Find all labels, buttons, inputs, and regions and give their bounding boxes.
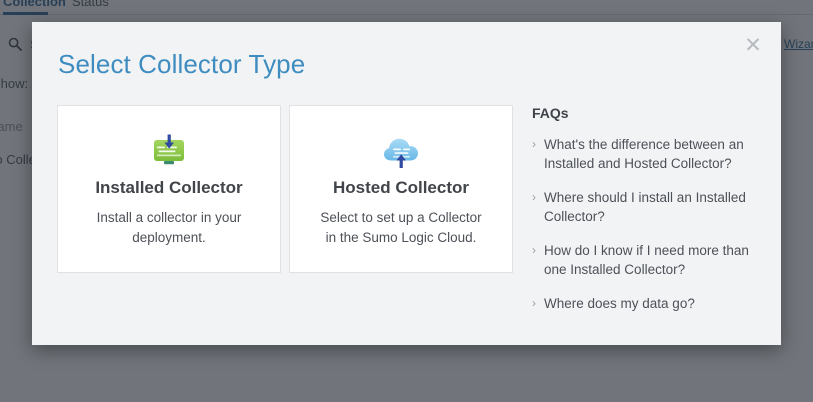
collector-type-card-list: Installed Collector Install a collector … <box>57 105 513 273</box>
faq-link-3[interactable]: › How do I know if I need more than one … <box>532 241 756 279</box>
faq-link-4[interactable]: › Where does my data go? <box>532 294 756 313</box>
card-title-installed: Installed Collector <box>58 178 280 198</box>
faq-link-1[interactable]: › What's the difference between an Insta… <box>532 135 756 173</box>
hosted-collector-cloud-icon <box>290 128 512 174</box>
card-description-installed: Install a collector in your deployment. <box>82 208 256 248</box>
chevron-right-icon: › <box>532 135 536 154</box>
faq-link-3-label: How do I know if I need more than one In… <box>544 243 749 277</box>
close-icon[interactable]: ✕ <box>739 32 767 60</box>
faq-title: FAQs <box>532 105 756 121</box>
select-collector-type-dialog: ✕ Select Collector Type <box>32 22 781 345</box>
card-title-hosted: Hosted Collector <box>290 178 512 198</box>
chevron-right-icon: › <box>532 241 536 260</box>
faq-link-2-label: Where should I install an Installed Coll… <box>544 190 746 224</box>
faq-link-2[interactable]: › Where should I install an Installed Co… <box>532 188 756 226</box>
card-installed-collector[interactable]: Installed Collector Install a collector … <box>57 105 281 273</box>
chevron-right-icon: › <box>532 188 536 207</box>
installed-collector-monitor-icon <box>58 128 280 174</box>
faq-link-1-label: What's the difference between an Install… <box>544 137 744 171</box>
dialog-title: Select Collector Type <box>58 49 305 80</box>
card-description-hosted: Select to set up a Collector in the Sumo… <box>314 208 488 248</box>
faq-link-4-label: Where does my data go? <box>544 296 695 311</box>
faq-panel: FAQs › What's the difference between an … <box>532 105 756 328</box>
chevron-right-icon: › <box>532 294 536 313</box>
card-hosted-collector[interactable]: Hosted Collector Select to set up a Coll… <box>289 105 513 273</box>
